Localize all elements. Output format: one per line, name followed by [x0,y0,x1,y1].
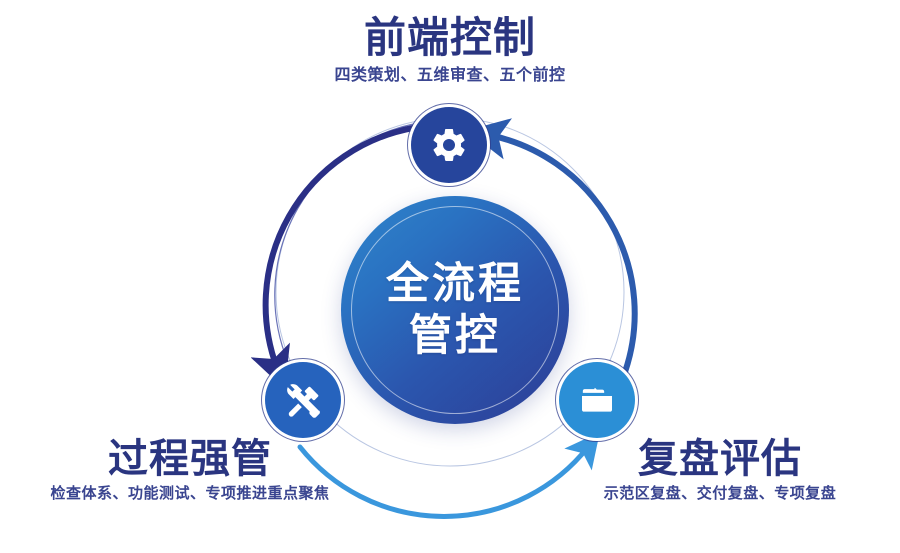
label-front-end-control-title: 前端控制 [0,16,900,60]
node-process-control[interactable] [265,362,341,438]
center-hub-line1: 全流程 [386,258,524,310]
label-front-end-control-subtitle: 四类策划、五维审查、五个前控 [0,68,900,85]
label-process-control-subtitle: 检查体系、功能测试、专项推进重点聚焦 [10,486,370,502]
center-hub-line2: 管控 [409,310,501,362]
label-review-evaluation: 复盘评估 示范区复盘、交付复盘、专项复盘 [540,438,900,502]
label-process-control-title: 过程强管 [10,438,370,480]
node-review-evaluation[interactable] [559,362,635,438]
node-front-end-control[interactable] [411,107,487,183]
center-hub[interactable]: 全流程 管控 [341,196,569,424]
folder-icon [577,380,617,420]
center-hub-text: 全流程 管控 [341,196,569,424]
label-review-evaluation-subtitle: 示范区复盘、交付复盘、专项复盘 [540,486,900,502]
label-process-control: 过程强管 检查体系、功能测试、专项推进重点聚焦 [10,438,370,502]
infographic-canvas: 全流程 管控 前端控制 四类策划、五维审查、五个 [0,0,900,553]
label-review-evaluation-title: 复盘评估 [540,438,900,480]
tools-icon [283,380,323,420]
label-front-end-control: 前端控制 四类策划、五维审查、五个前控 [0,16,900,85]
gear-icon [429,125,469,165]
